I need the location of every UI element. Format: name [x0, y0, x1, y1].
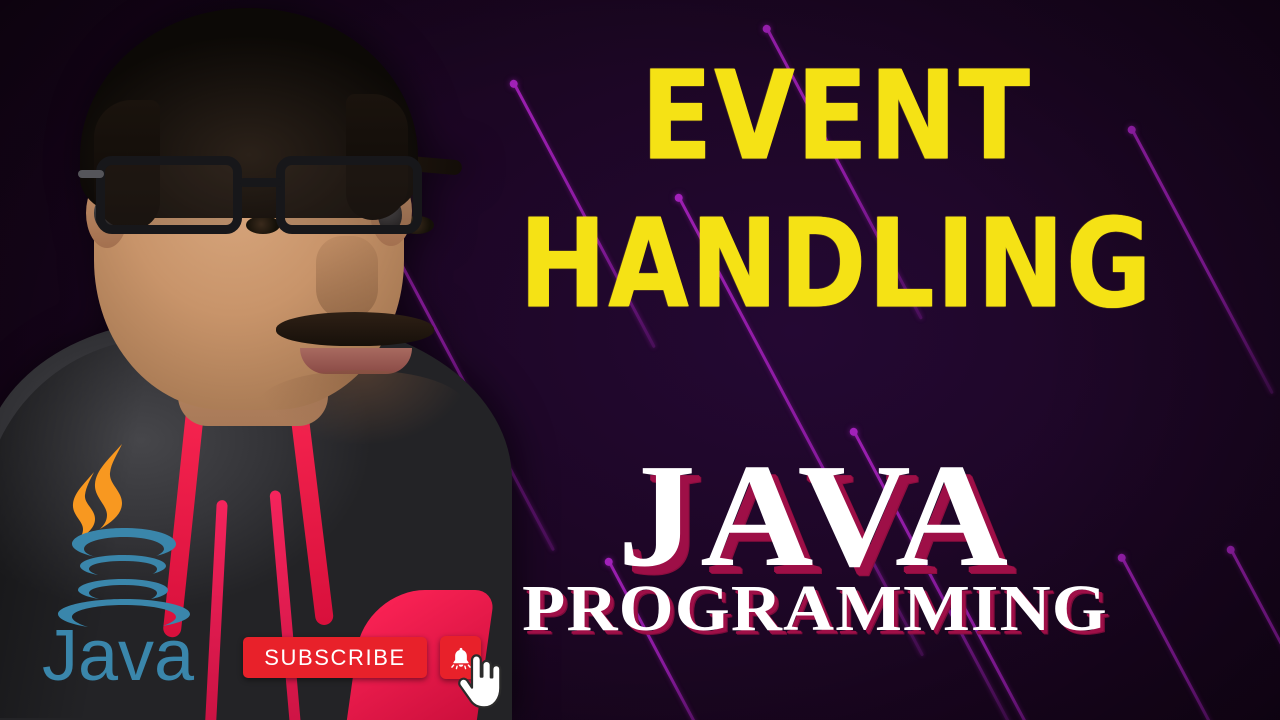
youtube-thumbnail: Java EVENT HANDLING JAVA PROGRAMMING SUB…	[0, 0, 1280, 720]
brand-subtitle-programming: PROGRAMMING	[422, 576, 1209, 642]
nose	[316, 236, 378, 320]
title-line-1: EVENT	[392, 58, 1280, 176]
java-coffee-cup-logo: Java	[36, 432, 212, 684]
glasses-temple	[78, 170, 104, 178]
title-line-2: HANDLING	[392, 206, 1280, 324]
lens-left	[96, 156, 242, 234]
brand-title-java: JAVA	[449, 448, 1180, 584]
glasses-bridge	[240, 178, 282, 187]
subscribe-button-label: SUBSCRIBE	[264, 645, 406, 671]
svg-text:Java: Java	[42, 616, 195, 684]
chin-shading	[256, 370, 466, 444]
hoodie-drawstring-right	[269, 490, 305, 720]
brand-block: JAVA PROGRAMMING	[470, 448, 1160, 640]
title-block: EVENT HANDLING	[392, 58, 1280, 306]
hand-pointer-cursor-icon	[455, 652, 503, 712]
subscribe-button[interactable]: SUBSCRIBE	[243, 637, 427, 678]
eyeglasses	[78, 148, 434, 244]
